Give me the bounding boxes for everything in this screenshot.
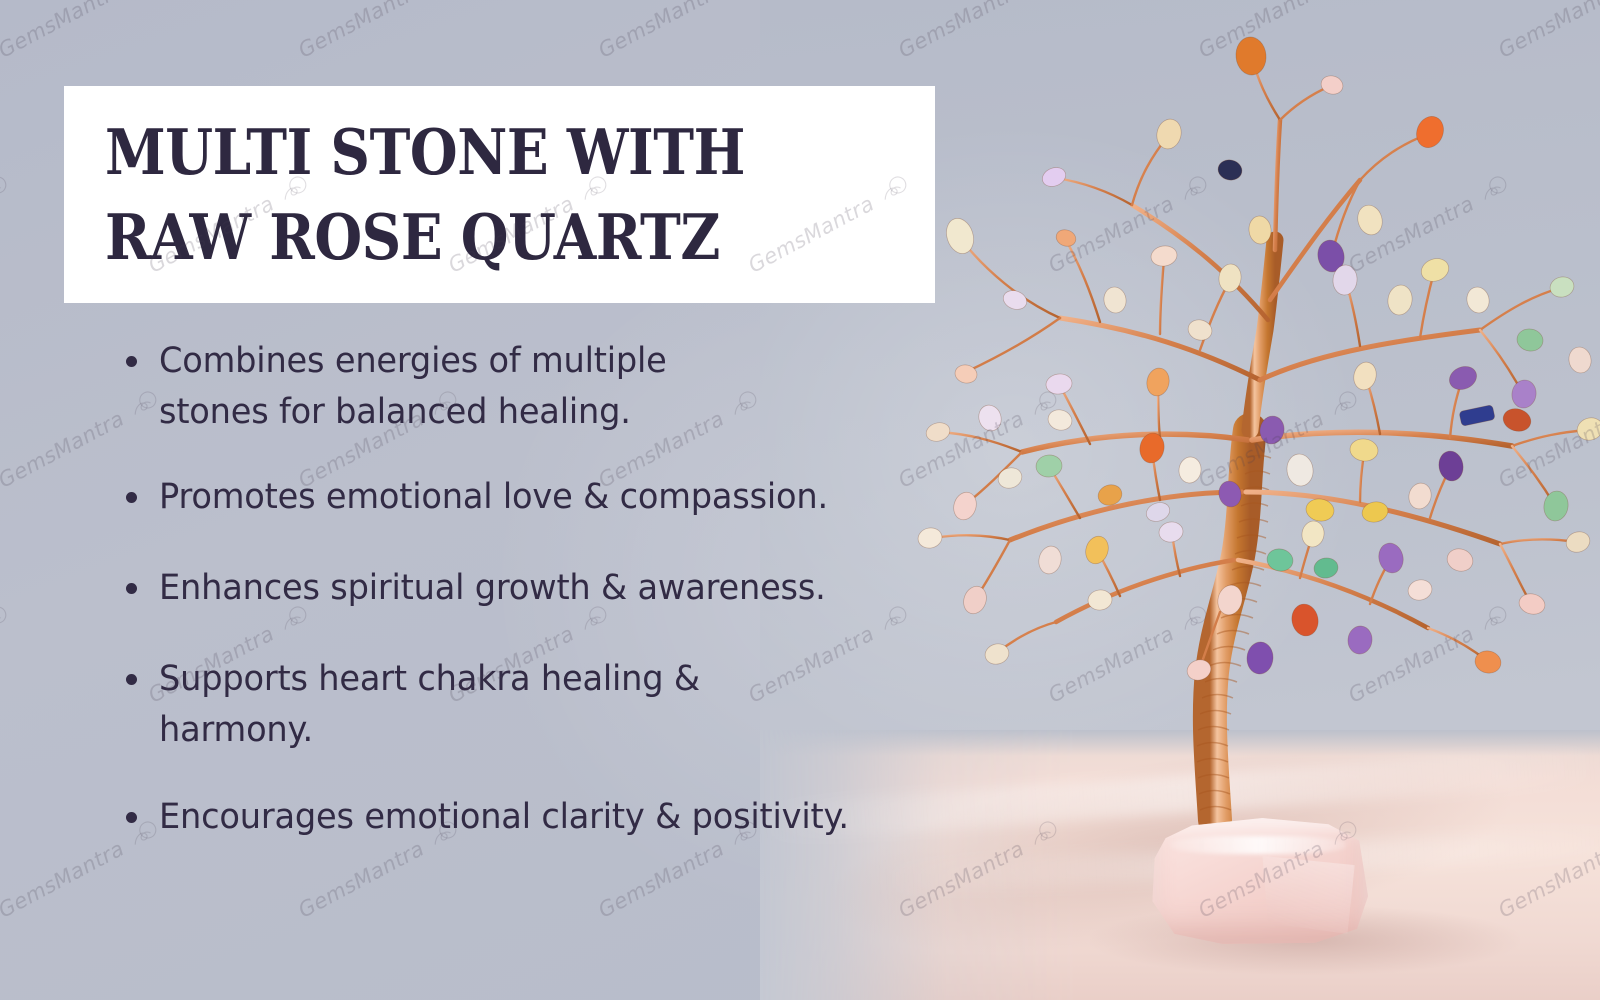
watermark-text: GemsMantra (0, 0, 128, 63)
watermark-text: GemsMantra (0, 406, 128, 492)
raw-rose-quartz-base (1148, 818, 1368, 944)
infographic-canvas: MULTI STONE WITHRAW ROSE QUARTZ Combines… (0, 0, 1600, 1000)
watermark: GemsMantra (0, 173, 12, 278)
list-item: Supports heart chakra healing & harmony. (126, 654, 976, 756)
watermark: GemsMantra (594, 0, 762, 63)
benefits-list: Combines energies of multiple stones for… (126, 336, 976, 843)
bullet-dot-icon (126, 674, 137, 685)
title-line-1: MULTI STONE WITH (105, 115, 745, 189)
watermark-text: GemsMantra (594, 0, 728, 63)
watermark: GemsMantra (0, 603, 12, 708)
list-item: Encourages emotional clarity & positivit… (126, 792, 976, 843)
bullet-dot-icon (126, 492, 137, 503)
watermark: GemsMantra (0, 0, 162, 63)
list-item: Combines energies of multiple stones for… (126, 336, 976, 438)
bullet-dot-icon (126, 356, 137, 367)
quartz-side-facet (1262, 856, 1354, 934)
watermark: GemsMantra (294, 0, 462, 63)
list-item-text: Promotes emotional love & compassion. (159, 472, 828, 523)
gemsmantra-infinity-logo-icon (0, 173, 12, 208)
gemsmantra-infinity-logo-icon (0, 603, 12, 638)
title-card: MULTI STONE WITHRAW ROSE QUARTZ (64, 86, 935, 303)
list-item-text: Combines energies of multiple stones for… (159, 336, 754, 438)
list-item-text: Supports heart chakra healing & harmony. (159, 654, 783, 756)
bullet-dot-icon (126, 583, 137, 594)
watermark-text: GemsMantra (294, 0, 428, 63)
watermark-text: GemsMantra (594, 836, 728, 922)
list-item-text: Encourages emotional clarity & positivit… (159, 792, 849, 843)
list-item: Enhances spiritual growth & awareness. (126, 563, 976, 614)
watermark-text: GemsMantra (294, 836, 428, 922)
page-title: MULTI STONE WITHRAW ROSE QUARTZ (105, 110, 801, 280)
watermark-text: GemsMantra (0, 836, 128, 922)
list-item-text: Enhances spiritual growth & awareness. (159, 563, 826, 614)
quartz-top-highlight (1170, 836, 1346, 854)
list-item: Promotes emotional love & compassion. (126, 472, 976, 523)
title-line-2: RAW ROSE QUARTZ (105, 195, 801, 280)
bullet-dot-icon (126, 812, 137, 823)
